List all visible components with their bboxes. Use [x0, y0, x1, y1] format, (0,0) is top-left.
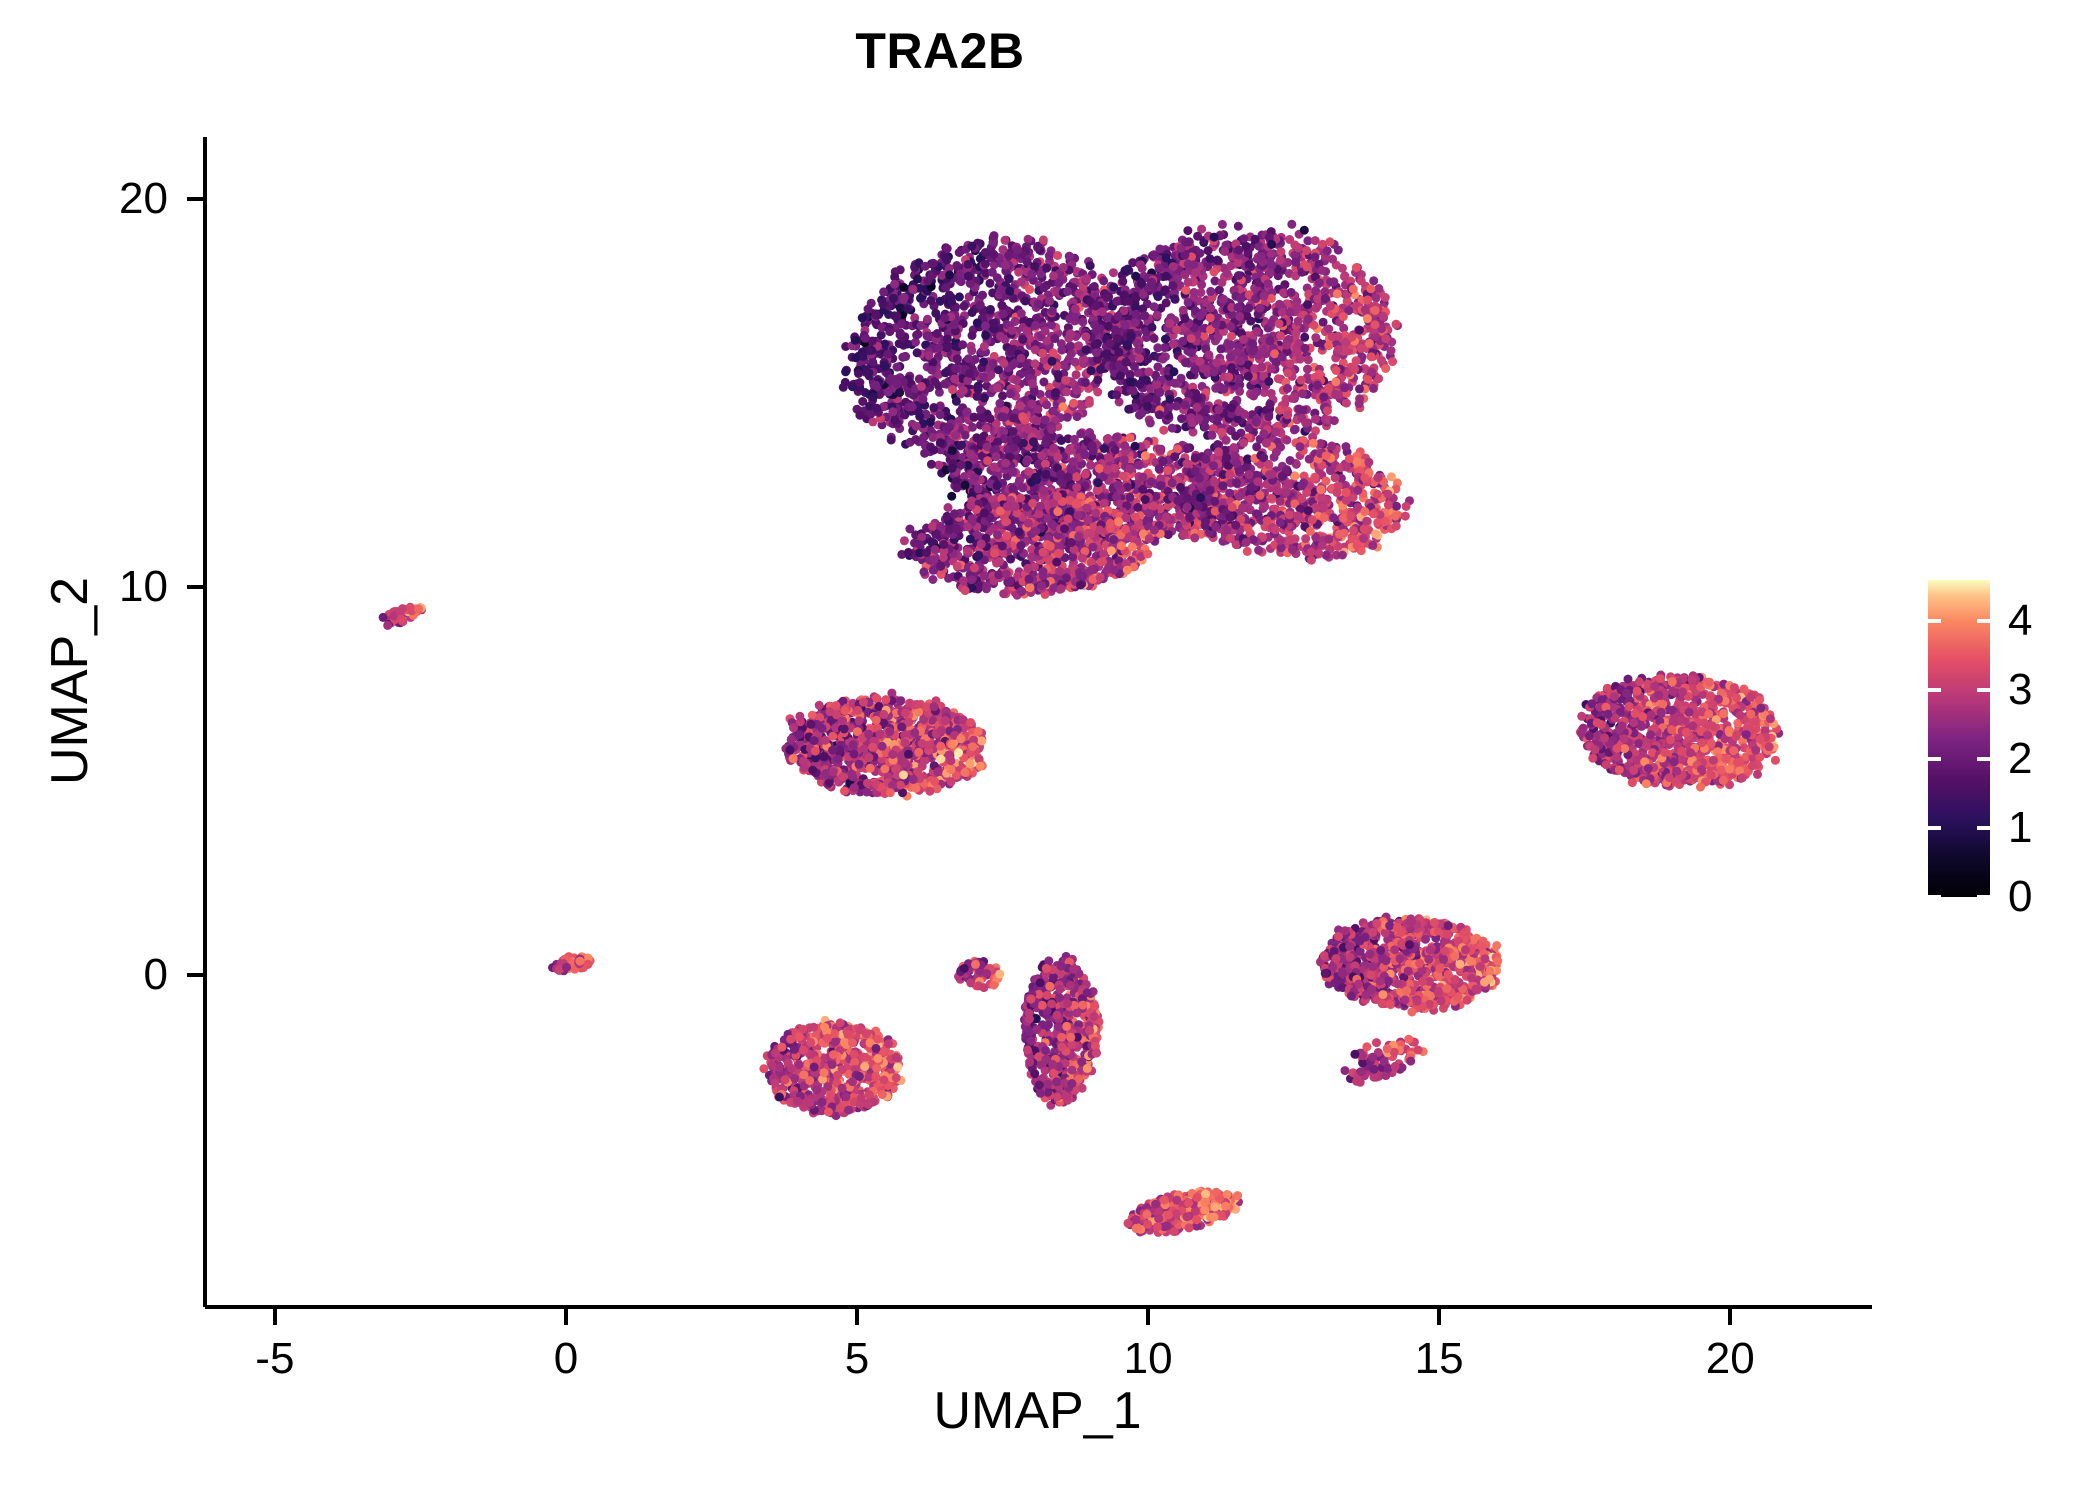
colorbar-tick-mark [1977, 895, 1990, 899]
color-legend: 01234 [1928, 580, 1990, 897]
y-axis-title: UMAP_2 [44, 311, 96, 1051]
colorbar-tick-mark [1977, 688, 1990, 692]
colorbar-tick-label: 1 [2008, 806, 2032, 850]
colorbar-tick-label: 3 [2008, 668, 2032, 712]
colorbar-tick-label: 4 [2008, 599, 2032, 643]
y-tick-mark [187, 973, 203, 977]
x-tick-label: -5 [175, 1337, 375, 1381]
page-title: TRA2B [0, 26, 2100, 76]
x-tick-mark [564, 1309, 568, 1325]
x-tick-label: 20 [1630, 1337, 1830, 1381]
x-tick-label: 0 [466, 1337, 666, 1381]
colorbar-tick-mark [1928, 895, 1941, 899]
y-tick-label: 20 [0, 177, 168, 221]
colorbar-gradient [1928, 580, 1990, 897]
colorbar-tick-label: 0 [2008, 875, 2032, 919]
colorbar-tick-label: 2 [2008, 737, 2032, 781]
x-tick-mark [1728, 1309, 1732, 1325]
x-tick-mark [1437, 1309, 1441, 1325]
plot-panel[interactable] [205, 137, 1870, 1305]
x-tick-mark [1146, 1309, 1150, 1325]
colorbar-tick-mark [1928, 757, 1941, 761]
colorbar-tick-mark [1928, 619, 1941, 623]
y-tick-mark [187, 197, 203, 201]
x-tick-mark [855, 1309, 859, 1325]
x-tick-label: 10 [1048, 1337, 1248, 1381]
colorbar-tick-mark [1928, 688, 1941, 692]
colorbar-tick-mark [1977, 826, 1990, 830]
colorbar-tick-mark [1928, 826, 1941, 830]
x-tick-label: 15 [1339, 1337, 1539, 1381]
y-tick-mark [187, 585, 203, 589]
scatter-points-layer [205, 137, 1870, 1305]
x-axis-line [205, 1305, 1872, 1309]
x-tick-label: 5 [757, 1337, 957, 1381]
colorbar-tick-mark [1977, 619, 1990, 623]
umap-feature-plot: TRA2B 01020 -505101520 UMAP_1 UMAP_2 012… [0, 0, 2100, 1500]
y-axis-line [203, 137, 207, 1307]
colorbar-tick-mark [1977, 757, 1990, 761]
x-axis-title: UMAP_1 [205, 1385, 1870, 1437]
x-tick-mark [273, 1309, 277, 1325]
